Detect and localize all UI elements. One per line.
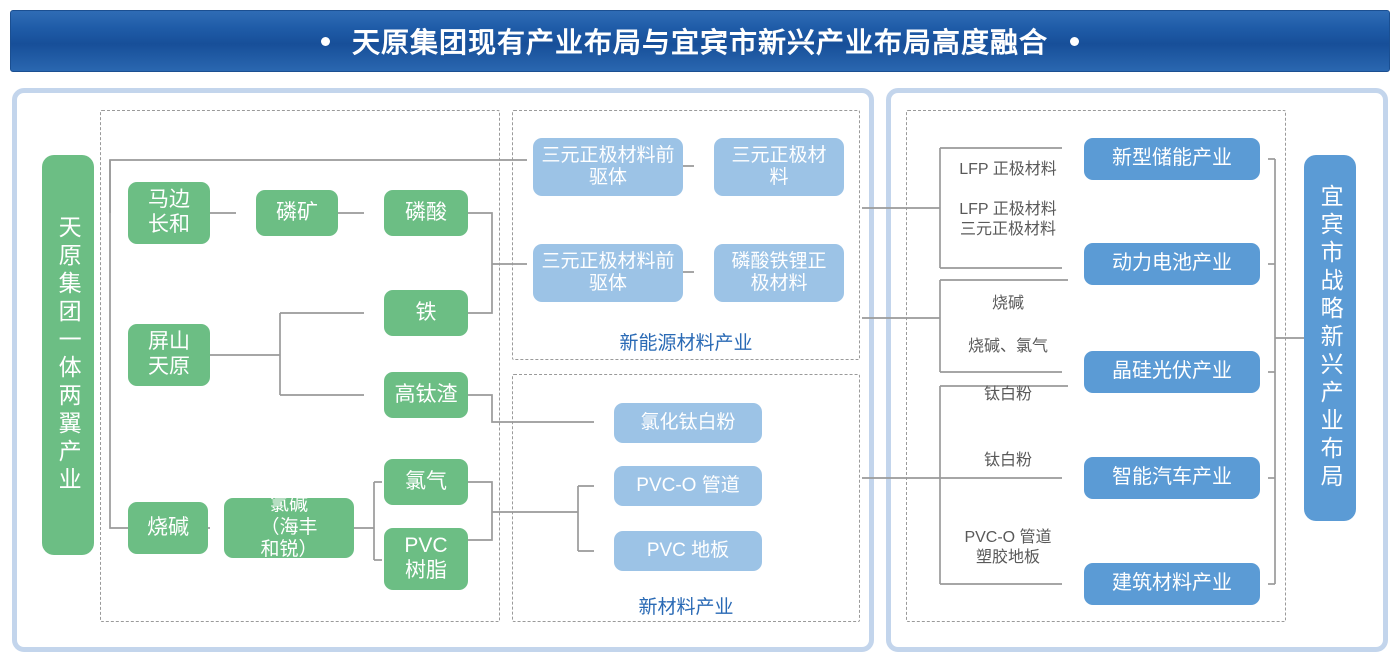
diagram-canvas: 天原集团现有产业布局与宜宾市新兴产业布局高度融合 bbox=[0, 0, 1400, 664]
flow-label-auto: 钛白粉 bbox=[938, 451, 1078, 471]
node-label: PVC-O 管道 bbox=[636, 475, 739, 497]
node-label: 三元正极材料前驱体 bbox=[541, 145, 676, 190]
right-vertical-bar[interactable]: 宜宾市战略新兴产业布局 bbox=[1304, 155, 1356, 521]
flow-label-battery: LFP 正极材料 三元正极材料 bbox=[938, 200, 1078, 239]
industry-crystalline-silicon-pv[interactable]: 晶硅光伏产业 bbox=[1084, 351, 1260, 393]
industry-power-battery[interactable]: 动力电池产业 bbox=[1084, 243, 1260, 285]
node-label: 氯碱（海丰和锐） bbox=[260, 494, 319, 561]
node-chlorinated-tio2[interactable]: 氯化钛白粉 bbox=[614, 403, 762, 443]
node-label: 晶硅光伏产业 bbox=[1112, 360, 1232, 384]
node-label: 屏山天原 bbox=[144, 330, 194, 380]
node-label: 氯气 bbox=[405, 470, 447, 495]
node-label: 智能汽车产业 bbox=[1112, 466, 1232, 490]
node-ncm-precursor-1[interactable]: 三元正极材料前驱体 bbox=[533, 138, 683, 196]
node-label: 新型储能产业 bbox=[1112, 147, 1232, 171]
flow-label-line1: 烧碱 bbox=[992, 295, 1024, 312]
flow-label-line1: 烧碱、氯气 bbox=[968, 338, 1048, 355]
node-high-titanium-slag[interactable]: 高钛渣 bbox=[384, 372, 468, 418]
left-bar-label: 天原集团一体两翼产业 bbox=[56, 215, 80, 495]
node-label: 动力电池产业 bbox=[1112, 252, 1232, 276]
node-phosphate-ore[interactable]: 磷矿 bbox=[256, 190, 338, 236]
node-label: 磷酸 bbox=[405, 201, 447, 226]
node-pvc-floor[interactable]: PVC 地板 bbox=[614, 531, 762, 571]
node-iron[interactable]: 铁 bbox=[384, 290, 468, 336]
node-label: 烧碱 bbox=[147, 516, 189, 541]
node-label: 磷矿 bbox=[276, 201, 318, 226]
bullet-left-icon bbox=[321, 37, 330, 46]
node-label: 氯化钛白粉 bbox=[640, 412, 735, 434]
node-ncm-cathode[interactable]: 三元正极材料 bbox=[714, 138, 844, 196]
flow-label-building: PVC-O 管道 塑胶地板 bbox=[938, 528, 1078, 567]
node-label: 铁 bbox=[416, 301, 437, 326]
page-title-banner: 天原集团现有产业布局与宜宾市新兴产业布局高度融合 bbox=[10, 10, 1390, 72]
left-vertical-bar[interactable]: 天原集团一体两翼产业 bbox=[42, 155, 94, 555]
node-chlor-alkali[interactable]: 氯碱（海丰和锐） bbox=[224, 498, 354, 558]
flow-label-caustic: 烧碱 bbox=[938, 294, 1078, 314]
flow-label-line1: 钛白粉 bbox=[984, 452, 1032, 469]
flow-label-line1: 钛白粉 bbox=[984, 386, 1032, 403]
page-title: 天原集团现有产业布局与宜宾市新兴产业布局高度融合 bbox=[352, 21, 1048, 61]
node-label: PVC 地板 bbox=[647, 540, 729, 562]
node-label: 三元正极材料前驱体 bbox=[541, 251, 676, 296]
node-lfp-cathode[interactable]: 磷酸铁锂正极材料 bbox=[714, 244, 844, 302]
flow-label-line1: LFP 正极材料 bbox=[959, 161, 1057, 178]
flow-label-tio2-top: 钛白粉 bbox=[938, 385, 1078, 405]
node-label: 马边长和 bbox=[144, 188, 194, 238]
node-mabian-changhe[interactable]: 马边长和 bbox=[128, 182, 210, 244]
node-pvc-resin[interactable]: PVC树脂 bbox=[384, 528, 468, 590]
flow-label-storage: LFP 正极材料 bbox=[938, 160, 1078, 180]
node-label: 高钛渣 bbox=[395, 383, 458, 408]
node-chlorine-gas[interactable]: 氯气 bbox=[384, 459, 468, 505]
industry-building-material[interactable]: 建筑材料产业 bbox=[1084, 563, 1260, 605]
flow-label-line2: 塑胶地板 bbox=[976, 549, 1040, 566]
industry-new-energy-storage[interactable]: 新型储能产业 bbox=[1084, 138, 1260, 180]
node-ncm-precursor-2[interactable]: 三元正极材料前驱体 bbox=[533, 244, 683, 302]
right-bar-label: 宜宾市战略新兴产业布局 bbox=[1318, 184, 1342, 492]
bullet-right-icon bbox=[1070, 37, 1079, 46]
zone-caption-text: 新材料产业 bbox=[638, 597, 733, 618]
industry-intelligent-vehicle[interactable]: 智能汽车产业 bbox=[1084, 457, 1260, 499]
flow-label-line1: LFP 正极材料 bbox=[959, 201, 1057, 218]
node-pvco-pipe[interactable]: PVC-O 管道 bbox=[614, 466, 762, 506]
flow-label-line2: 三元正极材料 bbox=[960, 221, 1056, 238]
node-label: 建筑材料产业 bbox=[1112, 572, 1232, 596]
flow-label-line1: PVC-O 管道 bbox=[964, 529, 1051, 546]
zone-caption-new-energy: 新能源材料产业 bbox=[512, 328, 860, 355]
node-pingshan-tianyuan[interactable]: 屏山天原 bbox=[128, 324, 210, 386]
node-caustic-soda[interactable]: 烧碱 bbox=[128, 502, 208, 554]
zone-caption-new-material: 新材料产业 bbox=[512, 592, 860, 619]
node-label: 磷酸铁锂正极材料 bbox=[731, 251, 828, 296]
node-phosphoric-acid[interactable]: 磷酸 bbox=[384, 190, 468, 236]
flow-label-pv: 烧碱、氯气 bbox=[938, 337, 1078, 357]
node-label: 三元正极材料 bbox=[731, 145, 828, 190]
zone-caption-text: 新能源材料产业 bbox=[619, 333, 752, 354]
node-label: PVC树脂 bbox=[401, 534, 451, 584]
